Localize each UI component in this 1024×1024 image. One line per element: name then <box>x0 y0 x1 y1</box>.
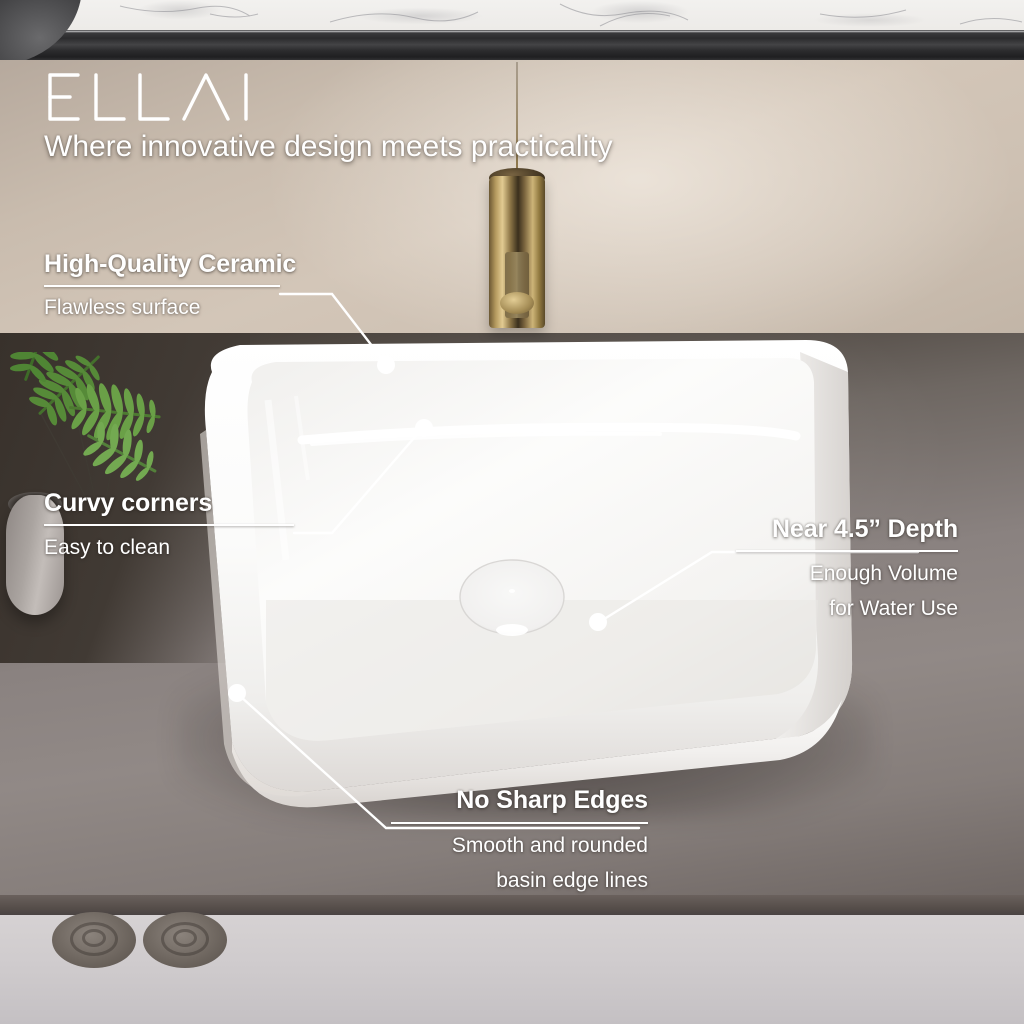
callout-rule <box>736 550 958 552</box>
callout-near-depth: Near 4.5” Depth Enough Volume for Water … <box>696 515 958 621</box>
callout-no-sharp-edges: No Sharp Edges Smooth and rounded basin … <box>382 786 648 893</box>
callout-subtitle: Flawless surface <box>44 295 296 321</box>
callout-title: Near 4.5” Depth <box>696 515 958 544</box>
callout-rule <box>44 285 280 287</box>
callout-subtitle-line2: for Water Use <box>696 596 958 622</box>
callout-subtitle-line1: Enough Volume <box>696 561 958 587</box>
callout-high-quality-ceramic: High-Quality Ceramic Flawless surface <box>44 250 296 321</box>
ellai-wordmark-logo <box>44 70 274 124</box>
callout-title: High-Quality Ceramic <box>44 250 296 279</box>
brand-tagline: Where innovative design meets practicali… <box>44 130 613 164</box>
brand-block: Where innovative design meets practicali… <box>44 70 613 164</box>
callout-rule <box>391 822 648 824</box>
product-feature-image: Where innovative design meets practicali… <box>0 0 1024 1024</box>
callout-title: No Sharp Edges <box>382 786 648 815</box>
callout-subtitle-line2: basin edge lines <box>382 868 648 894</box>
callout-subtitle-line1: Smooth and rounded <box>382 833 648 859</box>
callout-curvy-corners: Curvy corners Easy to clean <box>44 489 294 561</box>
callout-rule <box>44 524 294 526</box>
callout-subtitle: Easy to clean <box>44 535 294 561</box>
callout-title: Curvy corners <box>44 489 294 518</box>
